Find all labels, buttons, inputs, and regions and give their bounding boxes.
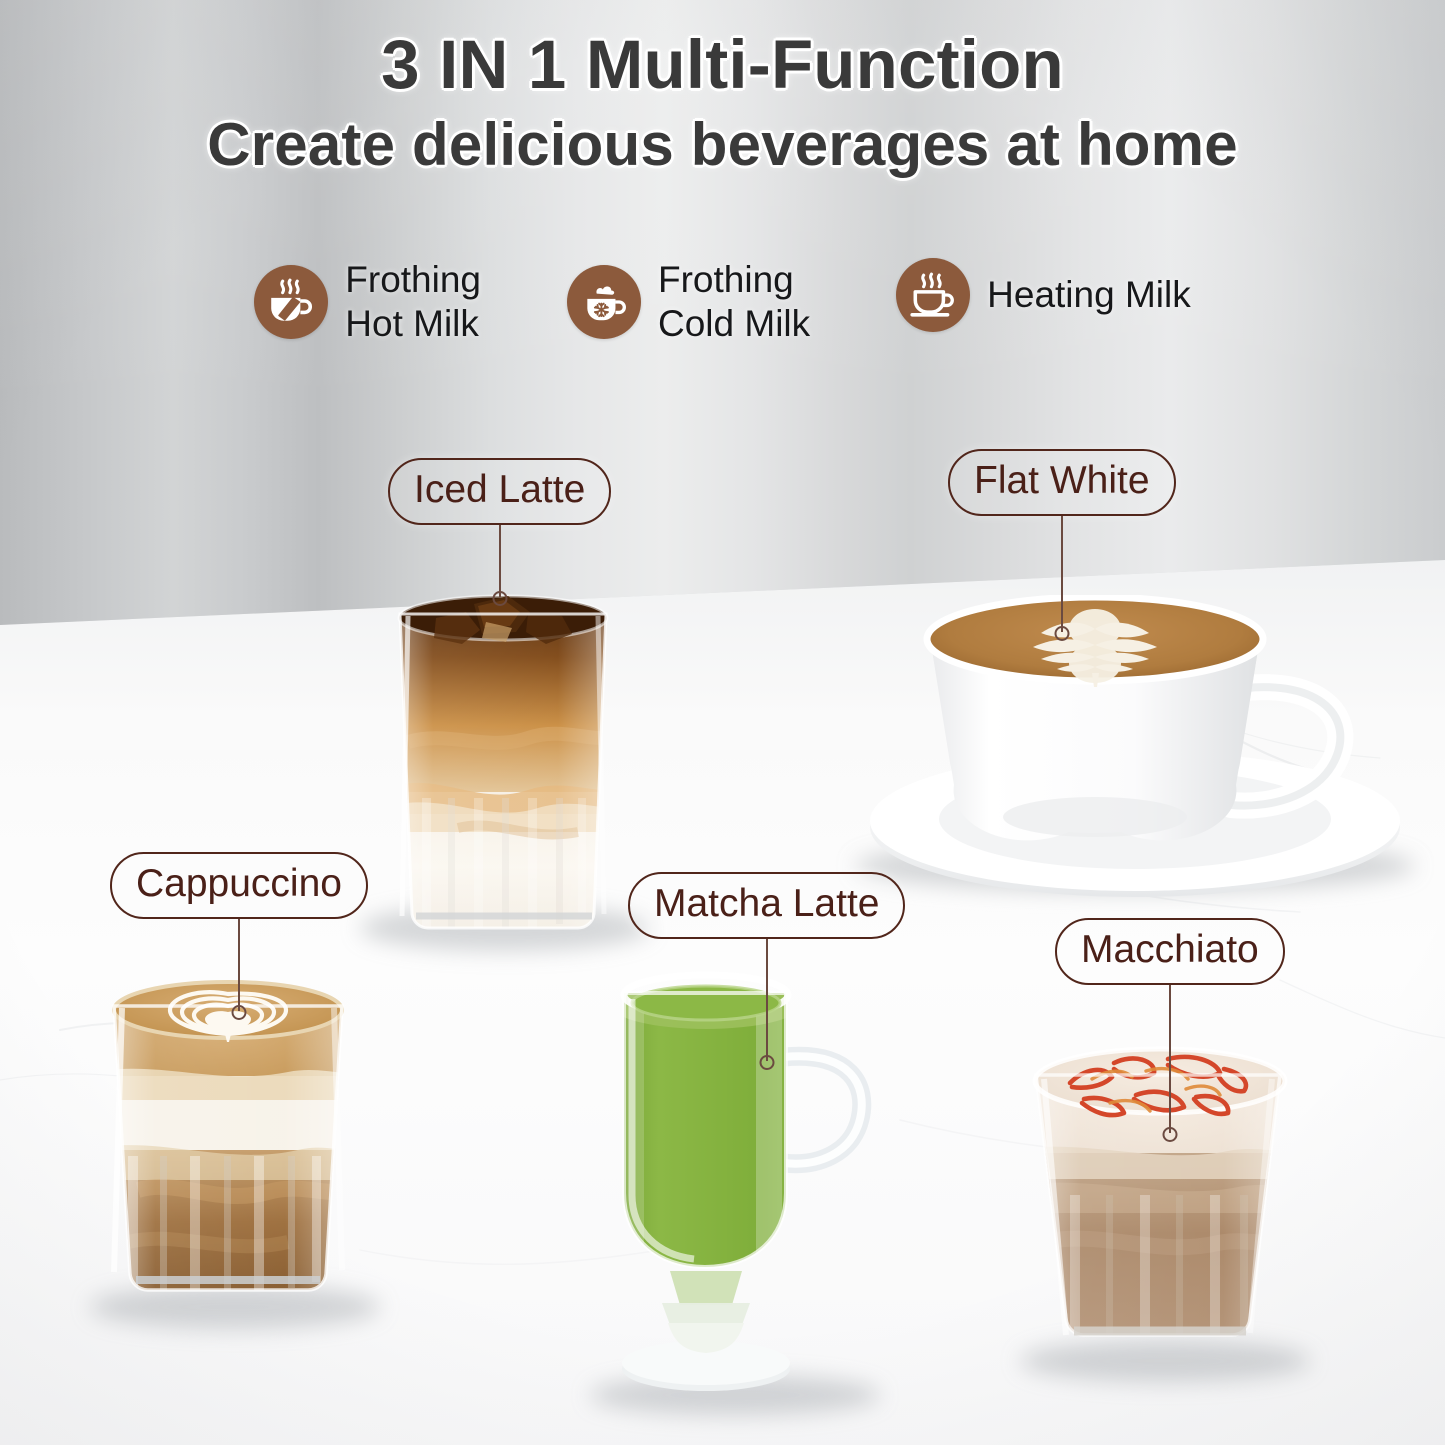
feature-heating-milk: Heating Milk [896, 258, 1191, 332]
feature-label: Heating Milk [987, 273, 1191, 317]
callout-leader-line [766, 939, 768, 1061]
callout-label: Matcha Latte [628, 872, 905, 939]
product-feature-image: 3 IN 1 Multi-Function Create delicious b… [0, 0, 1445, 1445]
callout-leader-line [238, 919, 240, 1011]
headline-block: 3 IN 1 Multi-Function Create delicious b… [0, 28, 1445, 177]
callout-leader-line [1061, 516, 1063, 632]
cup-with-cream-swirl-snowflake-icon [567, 265, 641, 339]
callout-label: Flat White [948, 449, 1176, 516]
callout-flat-white[interactable]: Flat White [948, 449, 1176, 516]
callout-label: Cappuccino [110, 852, 368, 919]
feature-label: Frothing Cold Milk [658, 258, 810, 345]
feature-frothing-cold-milk: Frothing Cold Milk [567, 258, 810, 345]
feature-frothing-hot-milk: Frothing Hot Milk [254, 258, 481, 345]
callout-leader-line [1169, 985, 1171, 1133]
cup-with-saucer-steam-icon [896, 258, 970, 332]
feature-row: Frothing Hot Milk [0, 258, 1445, 345]
callout-label: Iced Latte [388, 458, 611, 525]
callout-macchiato[interactable]: Macchiato [1055, 918, 1285, 985]
callout-iced-latte[interactable]: Iced Latte [388, 458, 611, 525]
feature-label: Frothing Hot Milk [345, 258, 481, 345]
iced-latte-glass [378, 592, 628, 942]
cup-with-frother-wand-steam-icon [254, 265, 328, 339]
callout-matcha-latte[interactable]: Matcha Latte [628, 872, 905, 939]
callout-label: Macchiato [1055, 918, 1285, 985]
headline-line-2: Create delicious beverages at home [0, 113, 1445, 177]
headline-line-1: 3 IN 1 Multi-Function [0, 28, 1445, 101]
callout-cappuccino[interactable]: Cappuccino [110, 852, 368, 919]
callout-leader-line [499, 525, 501, 597]
macchiato-glass [1018, 1045, 1303, 1375]
matcha-latte-glass [596, 965, 881, 1395]
cappuccino-glass [98, 980, 358, 1310]
flat-white-cup [845, 595, 1425, 905]
